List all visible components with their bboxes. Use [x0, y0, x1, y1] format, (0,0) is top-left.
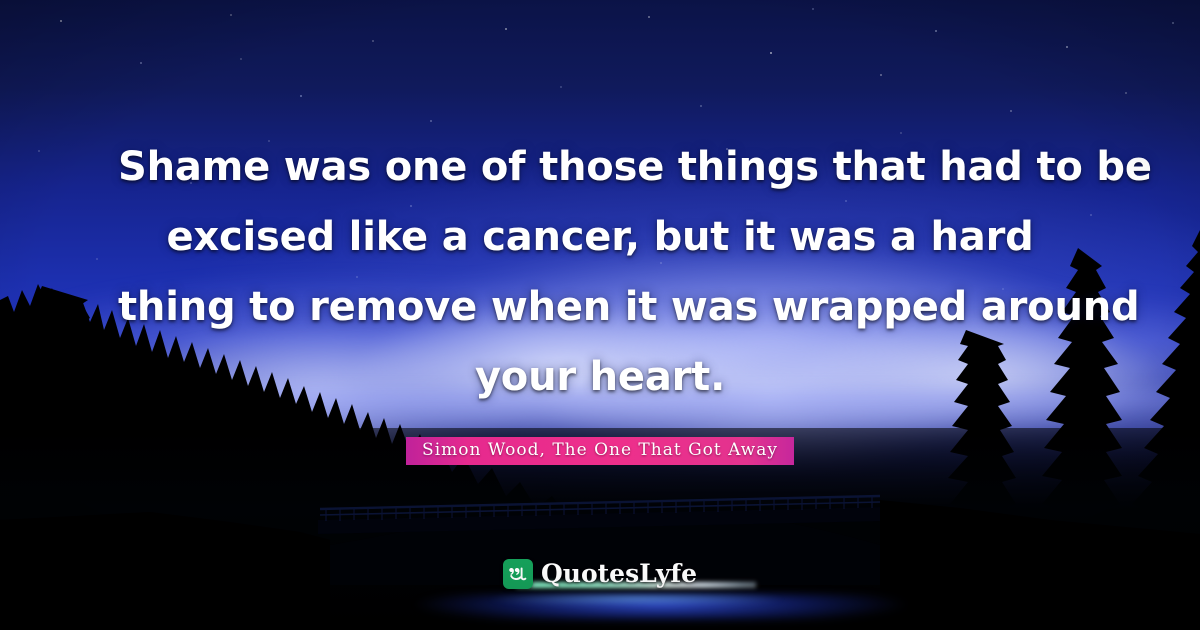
brand-logo[interactable]: QuotesLyfe	[0, 559, 1200, 589]
quote-text: Shame was one of those things that had t…	[0, 132, 1200, 412]
attribution-badge[interactable]: Simon Wood, The One That Got Away	[406, 437, 794, 465]
quote-line-3: thing to remove when it was wrapped arou…	[118, 272, 1082, 342]
quote-line-2: excised like a cancer, but it was a hard	[118, 202, 1082, 272]
quote-line-4: your heart.	[118, 342, 1082, 412]
water-reflection-highlight	[480, 594, 792, 604]
quote-line-1: Shame was one of those things that had t…	[118, 132, 1082, 202]
quote-smiley-icon	[503, 559, 533, 589]
quote-card: Shame was one of those things that had t…	[0, 0, 1200, 630]
brand-name: QuotesLyfe	[541, 560, 697, 588]
attribution-container: Simon Wood, The One That Got Away	[0, 437, 1200, 465]
